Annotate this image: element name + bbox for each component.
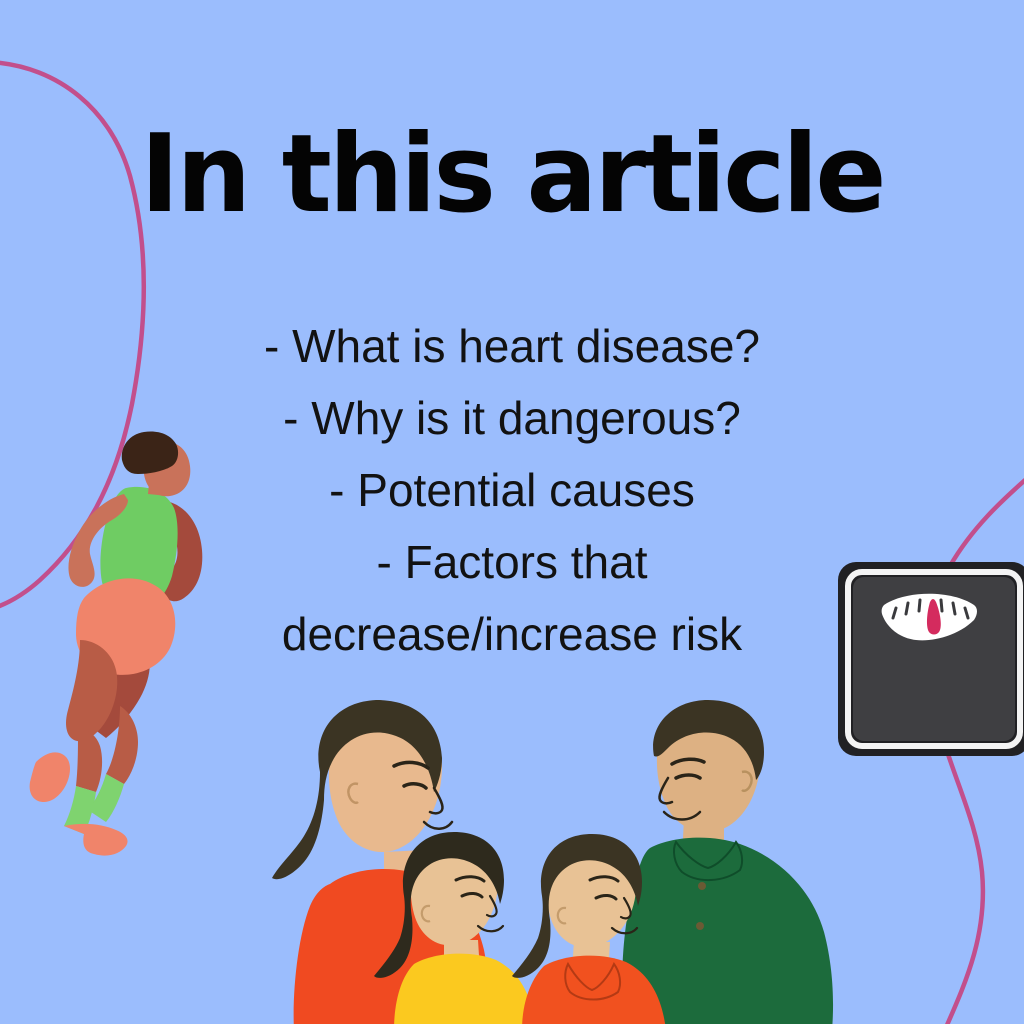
runner-front-shoe [64,824,128,856]
runner-back-shoe [30,752,70,802]
mother-mouth [424,822,452,829]
list-item: - What is heart disease? [0,310,1024,382]
runner-front-shin [76,730,102,792]
daughter-shirt [394,954,536,1024]
father-button-top [698,882,706,890]
running-woman-illustration [28,430,233,880]
poster-canvas: In this article - What is heart disease?… [0,0,1024,1024]
bathroom-scale-illustration [836,558,1024,763]
family-illustration [272,700,852,1024]
page-title: In this article [15,116,1008,234]
father-button-bottom [696,922,704,930]
family-member-father [622,700,833,1024]
